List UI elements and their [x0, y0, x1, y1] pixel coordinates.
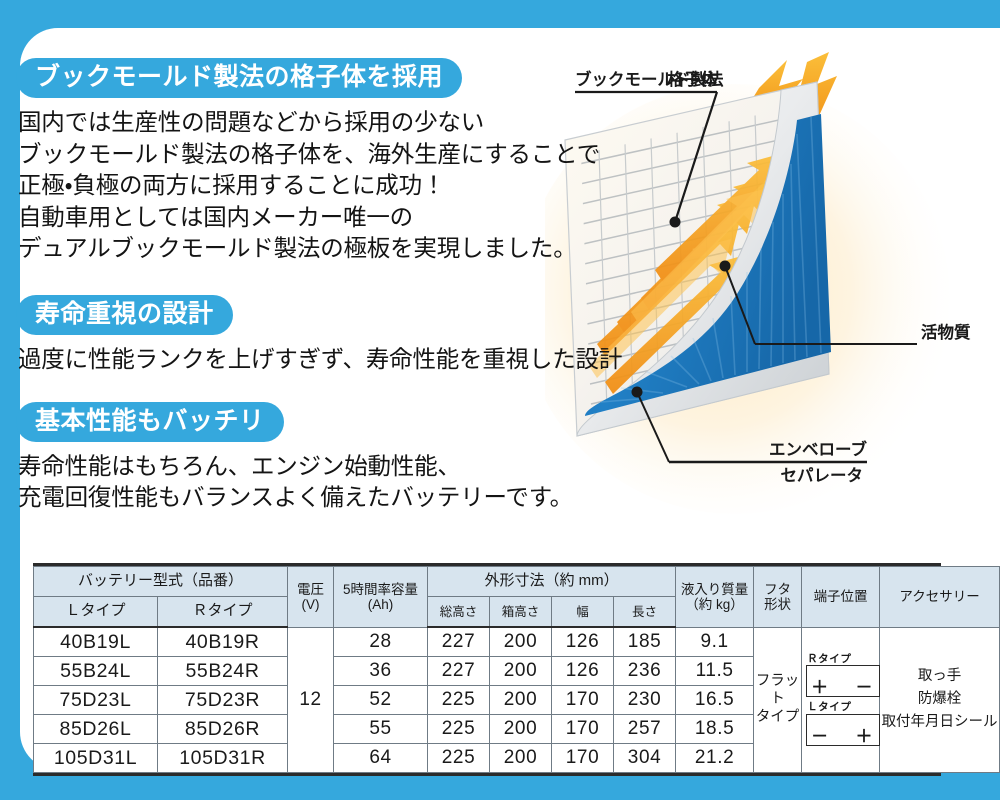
terminal-r-right-polarity: －: [855, 679, 873, 696]
spec-table: バッテリー型式（品番） 電圧 (V) 5時間率容量 (Ah) 外形寸法（約 mm…: [33, 566, 1000, 773]
cell-length: 236: [614, 657, 676, 686]
cell-filled-mass: 9.1: [676, 627, 754, 657]
header-l-type: Ｌタイプ: [34, 597, 158, 628]
cell-capacity: 36: [334, 657, 428, 686]
cell-filled-mass: 21.2: [676, 744, 754, 773]
cell-capacity: 52: [334, 686, 428, 715]
feature-copy-column: ブックモールド製法の格子体を採用 国内では生産性の問題などから採用の少ない ブッ…: [16, 58, 636, 514]
table-bottom-rule: [33, 773, 941, 776]
feature-body-3: 寿命性能はもちろん、エンジン始動性能、 充電回復性能もバランスよく備えたバッテリ…: [18, 451, 636, 514]
cell-capacity: 55: [334, 715, 428, 744]
cell-width: 126: [552, 627, 614, 657]
cell-filled-mass: 16.5: [676, 686, 754, 715]
callout-envelope-label: エンベローブ: [769, 439, 868, 459]
spec-table-wrapper: バッテリー型式（品番） 電圧 (V) 5時間率容量 (Ah) 外形寸法（約 mm…: [33, 563, 941, 776]
feature-body-1: 国内では生産性の問題などから採用の少ない ブックモールド製法の格子体を、海外生産…: [18, 107, 636, 265]
header-width: 幅: [552, 597, 614, 628]
terminal-diagram-r-label: Ｒタイプ: [806, 654, 880, 666]
cell-length: 230: [614, 686, 676, 715]
cell-r-type: 55B24R: [158, 657, 288, 686]
cell-accessories: 取っ手 防爆栓 取付年月日シール: [880, 627, 1000, 773]
cell-box-height: 200: [490, 686, 552, 715]
cell-width: 170: [552, 715, 614, 744]
header-accessories: アクセサリー: [880, 567, 1000, 628]
header-lid-shape: フタ 形状: [754, 567, 802, 628]
cell-l-type: 75D23L: [34, 686, 158, 715]
callout-separator-label: セパレータ: [781, 466, 864, 485]
terminal-diagram-l-label: Ｌタイプ: [806, 702, 880, 714]
cell-r-type: 105D31R: [158, 744, 288, 773]
header-model-group: バッテリー型式（品番）: [34, 567, 288, 597]
terminal-diagram-l-box: － ＋: [806, 714, 880, 746]
cell-terminal-position: Ｒタイプ ＋ － Ｌタイプ － ＋: [802, 627, 880, 773]
cell-total-height: 225: [428, 744, 490, 773]
cell-width: 126: [552, 657, 614, 686]
header-box-height: 箱高さ: [490, 597, 552, 628]
feature-block-1: ブックモールド製法の格子体を採用 国内では生産性の問題などから採用の少ない ブッ…: [16, 58, 636, 265]
header-total-height: 総高さ: [428, 597, 490, 628]
feature-block-2: 寿命重視の設計 過度に性能ランクを上げすぎず、寿命性能を重視した設計: [16, 295, 636, 376]
cell-box-height: 200: [490, 715, 552, 744]
page-root: ブックモールド製法 格子体 活物質 エンベローブ セパレータ ブックモールド製法…: [0, 0, 1000, 800]
cell-l-type: 40B19L: [34, 627, 158, 657]
table-row: 40B19L 40B19R 12 28 227 200 126 185 9.1 …: [34, 627, 1000, 657]
cell-length: 257: [614, 715, 676, 744]
terminal-r-left-polarity: ＋: [811, 679, 829, 696]
feature-block-3: 基本性能もバッチリ 寿命性能はもちろん、エンジン始動性能、 充電回復性能もバラン…: [16, 402, 636, 514]
cell-r-type: 75D23R: [158, 686, 288, 715]
feature-badge-3: 基本性能もバッチリ: [16, 402, 284, 442]
cell-lid-shape: フラット タイプ: [754, 627, 802, 773]
cell-capacity: 64: [334, 744, 428, 773]
cell-box-height: 200: [490, 627, 552, 657]
cell-length: 304: [614, 744, 676, 773]
cell-length: 185: [614, 627, 676, 657]
cell-total-height: 225: [428, 715, 490, 744]
cell-l-type: 85D26L: [34, 715, 158, 744]
cell-total-height: 225: [428, 686, 490, 715]
terminal-diagram-l: Ｌタイプ － ＋: [806, 702, 880, 746]
table-header-row-1: バッテリー型式（品番） 電圧 (V) 5時間率容量 (Ah) 外形寸法（約 mm…: [34, 567, 1000, 597]
terminal-l-right-polarity: ＋: [855, 728, 873, 745]
cell-l-type: 105D31L: [34, 744, 158, 773]
cell-capacity: 28: [334, 627, 428, 657]
header-terminal-position: 端子位置: [802, 567, 880, 628]
cell-box-height: 200: [490, 744, 552, 773]
cell-box-height: 200: [490, 657, 552, 686]
header-voltage: 電圧 (V): [288, 567, 334, 628]
header-length: 長さ: [614, 597, 676, 628]
callout-active-material-label: 活物質: [921, 322, 971, 342]
cell-total-height: 227: [428, 657, 490, 686]
cell-l-type: 55B24L: [34, 657, 158, 686]
terminal-diagram-r: Ｒタイプ ＋ －: [806, 654, 880, 698]
header-filled-mass: 液入り質量 （約 kg）: [676, 567, 754, 628]
feature-badge-1: ブックモールド製法の格子体を採用: [16, 58, 462, 98]
feature-body-2: 過度に性能ランクを上げすぎず、寿命性能を重視した設計: [18, 344, 636, 376]
cell-width: 170: [552, 744, 614, 773]
callout-grid-label: 格子体: [668, 69, 718, 89]
terminal-diagram-r-box: ＋ －: [806, 665, 880, 697]
cell-total-height: 227: [428, 627, 490, 657]
cell-width: 170: [552, 686, 614, 715]
terminal-l-left-polarity: －: [811, 728, 829, 745]
cell-filled-mass: 11.5: [676, 657, 754, 686]
cell-r-type: 40B19R: [158, 627, 288, 657]
cell-filled-mass: 18.5: [676, 715, 754, 744]
feature-badge-2: 寿命重視の設計: [16, 295, 233, 335]
cell-r-type: 85D26R: [158, 715, 288, 744]
header-dimensions-group: 外形寸法（約 mm）: [428, 567, 676, 597]
cell-voltage: 12: [288, 627, 334, 773]
header-capacity: 5時間率容量 (Ah): [334, 567, 428, 628]
header-r-type: Ｒタイプ: [158, 597, 288, 628]
